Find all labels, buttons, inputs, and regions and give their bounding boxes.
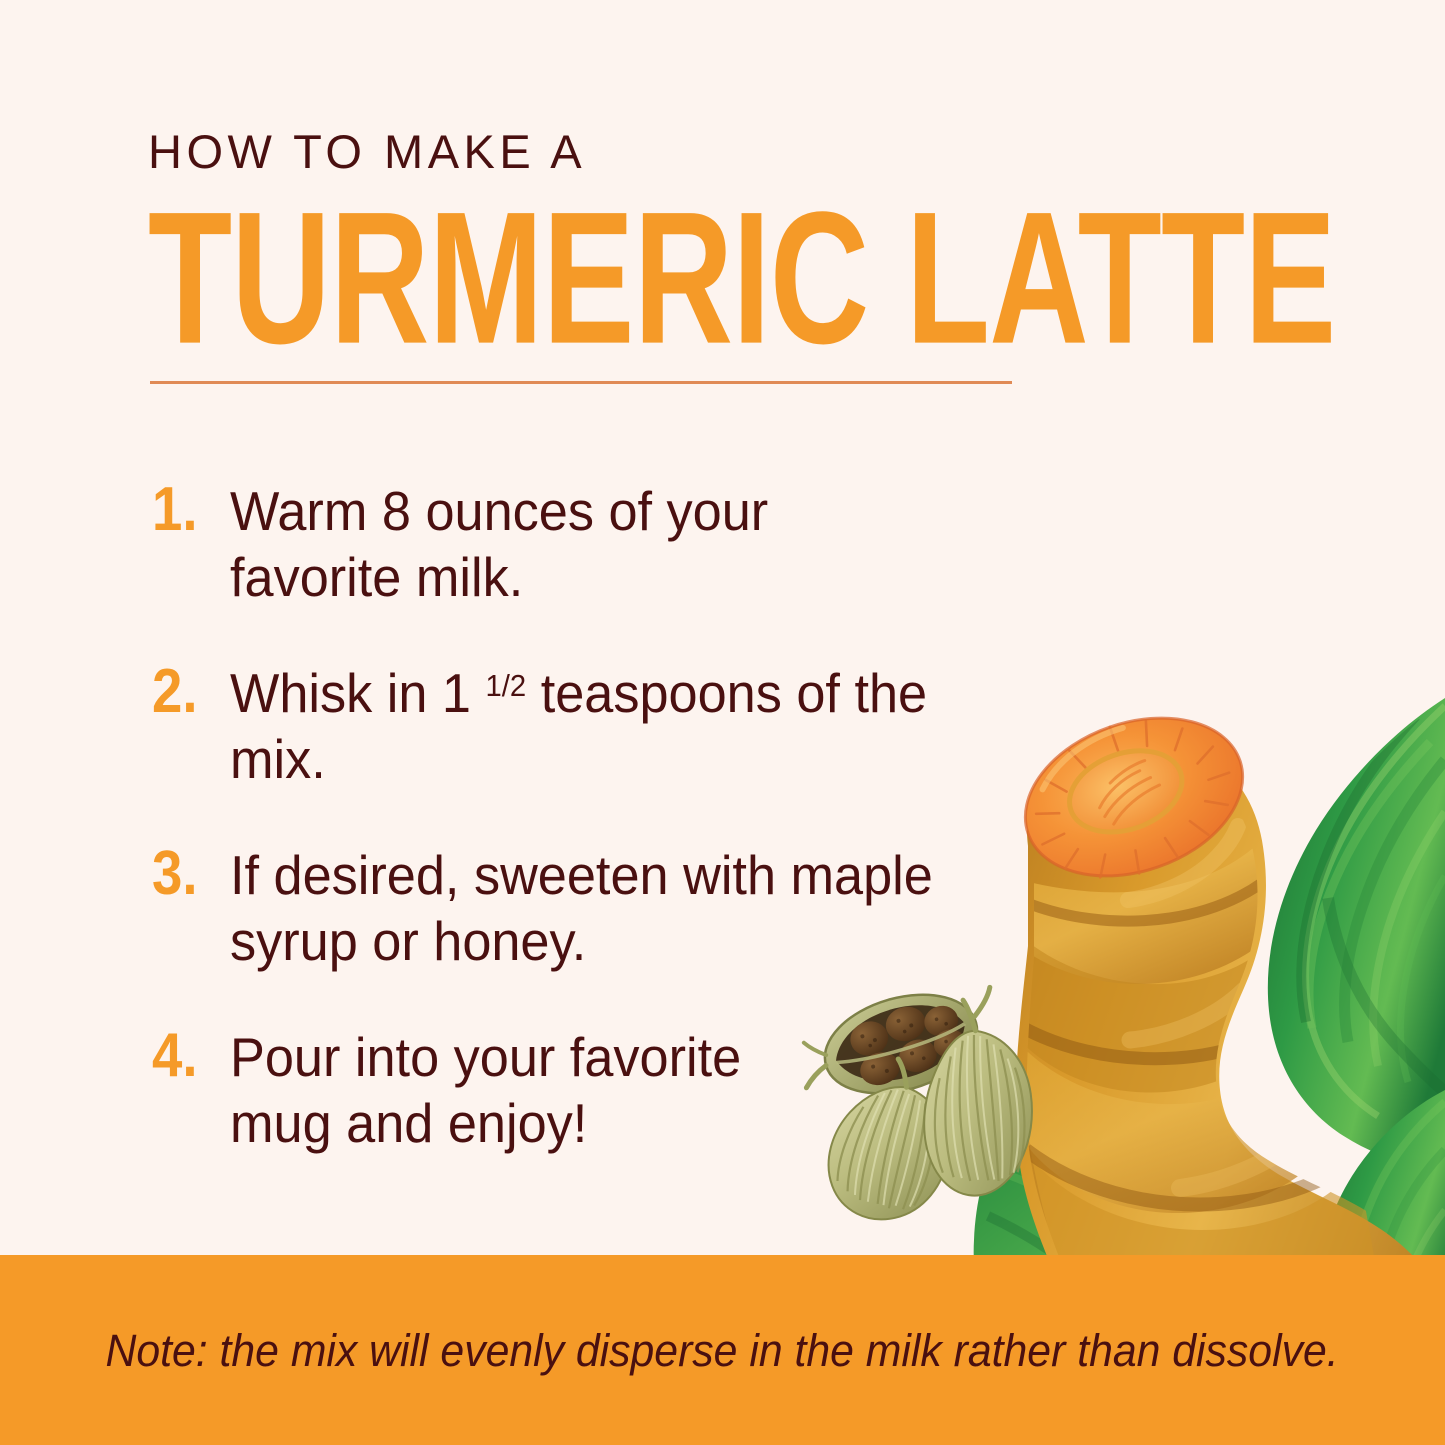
poster-header: HOW TO MAKE A TURMERIC LATTE [148,128,1048,341]
step-line: If desired, sweeten with maple [230,842,944,908]
step-line: Pour into your favorite [230,1024,944,1090]
list-item: 3. If desired, sweeten with maple syrup … [152,842,982,974]
page-title: TURMERIC LATTE [148,197,886,359]
note-text: Note: the mix will evenly disperse in th… [106,1328,1339,1373]
list-item: 2. Whisk in 1 1/2 teaspoons of the mix. [152,660,982,792]
step-text: Pour into your favorite mug and enjoy! [230,1024,944,1156]
title-divider [150,381,1012,384]
step-text: Warm 8 ounces of your favorite milk. [230,478,944,610]
step-line: Warm 8 ounces of your favorite milk. [230,480,768,608]
note-bar: Note: the mix will evenly disperse in th… [0,1255,1445,1445]
turmeric-root-cut-section [1004,691,1264,904]
list-item: 1. Warm 8 ounces of your favorite milk. [152,478,982,610]
step-number: 4. [152,1024,221,1087]
step-number: 3. [152,842,221,905]
leaf-upper-right [1268,698,1445,1168]
fraction-one-half: 1/2 [486,668,527,703]
step-number: 2. [152,660,221,723]
instructions-list: 1. Warm 8 ounces of your favorite milk. … [152,478,982,1206]
step-text: If desired, sweeten with maple syrup or … [230,842,944,974]
recipe-poster: HOW TO MAKE A TURMERIC LATTE 1. Warm 8 o… [0,0,1445,1445]
step-number: 1. [152,478,221,541]
kicker-text: HOW TO MAKE A [148,128,1048,175]
step-line: mug and enjoy! [230,1090,944,1156]
step-text-pre: Whisk in 1 [230,662,486,724]
step-line: syrup or honey. [230,908,944,974]
step-text: Whisk in 1 1/2 teaspoons of the mix. [230,660,944,792]
list-item: 4. Pour into your favorite mug and enjoy… [152,1024,982,1156]
